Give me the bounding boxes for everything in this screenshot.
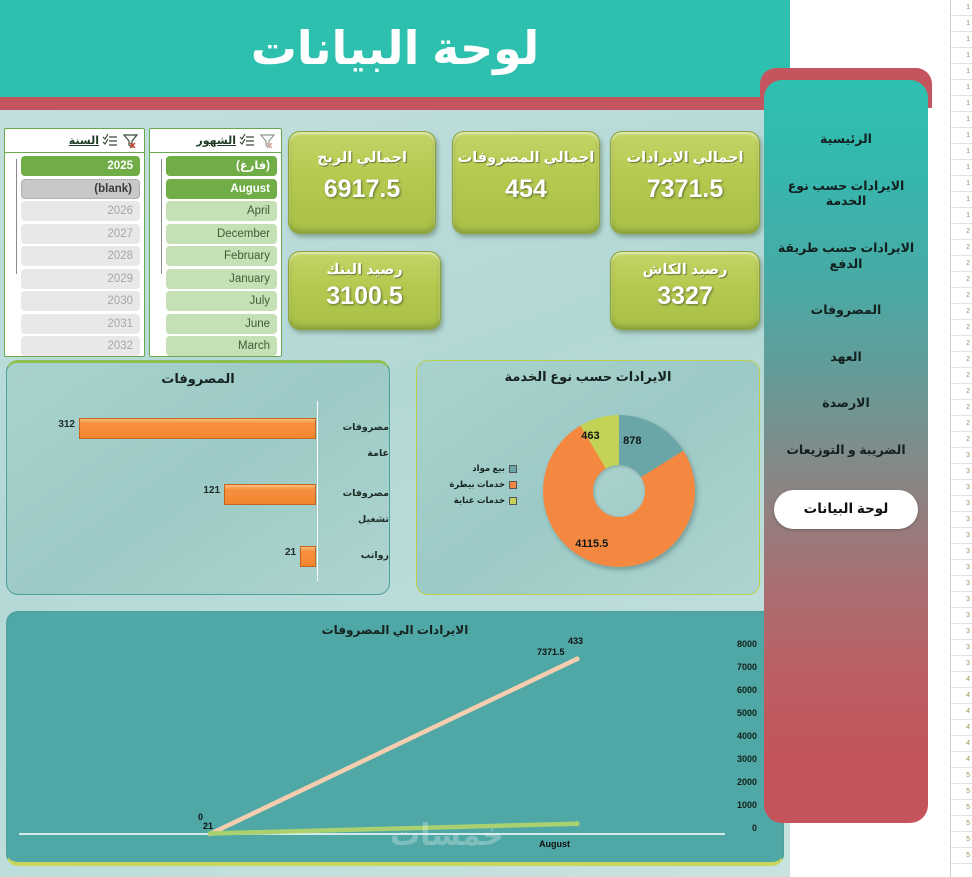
sidebar-item-home[interactable]: الرئيسية — [764, 132, 928, 148]
multi-select-icon[interactable] — [239, 133, 256, 149]
clear-filter-icon[interactable] — [122, 133, 139, 149]
slicer-year-scrollbar[interactable] — [9, 159, 17, 349]
chart-panel-expenses[interactable]: المصروفات مصروفات عامة 312 مصروفات تشغيل… — [6, 360, 390, 595]
legend-swatch-icon — [509, 465, 517, 473]
excel-row-number: 2 — [951, 304, 972, 320]
legend-label: خدمات بيطرة — [449, 479, 505, 490]
excel-row-number: 4 — [951, 672, 972, 688]
y-axis-tick: 7000 — [717, 662, 757, 672]
kpi-value: 6917.5 — [289, 175, 435, 204]
kpi-card-total-expenses[interactable]: اجمالي المصروفات 454 — [452, 131, 600, 234]
excel-row-number: 3 — [951, 576, 972, 592]
excel-row-number: 2 — [951, 400, 972, 416]
header-accent-rule — [0, 97, 790, 110]
excel-row-number: 1 — [951, 192, 972, 208]
bar-row[interactable]: رواتب 21 — [7, 543, 390, 569]
slicer-item-month[interactable]: February — [166, 246, 277, 266]
sidebar-item-dashboard[interactable]: لوحة البيانات — [774, 490, 918, 529]
excel-row-number: 3 — [951, 512, 972, 528]
slicer-months[interactable]: الشهور (فارغ) August April December Febr… — [149, 128, 282, 357]
kpi-label: اجمالي الايرادات — [611, 150, 759, 166]
excel-row-number: 3 — [951, 592, 972, 608]
excel-row-number: 3 — [951, 464, 972, 480]
bar-fill — [79, 418, 316, 439]
excel-row-number: 3 — [951, 528, 972, 544]
excel-row-number: 1 — [951, 16, 972, 32]
excel-row-number: 2 — [951, 432, 972, 448]
slicer-item-year[interactable]: 2027 — [21, 224, 140, 244]
legend-label: خدمات عناية — [454, 495, 505, 506]
excel-row-number: 2 — [951, 352, 972, 368]
slicer-months-header: الشهور — [150, 129, 281, 153]
slicer-months-title: الشهور — [155, 134, 236, 147]
chart-panel-revenue-by-service[interactable]: الايرادات حسب نوع الخدمة 878 4115.5 463 … — [416, 360, 760, 595]
bar-row[interactable]: مصروفات عامة 312 — [7, 415, 390, 441]
slicer-item-month[interactable]: June — [166, 314, 277, 334]
kpi-card-total-profit[interactable]: اجمالي الربح 6917.5 — [288, 131, 436, 234]
donut-value-label: 4115.5 — [575, 538, 608, 550]
y-axis-tick: 8000 — [717, 639, 757, 649]
kpi-label: اجمالي الربح — [289, 150, 435, 166]
excel-row-number: 3 — [951, 544, 972, 560]
excel-row-number: 5 — [951, 816, 972, 832]
excel-row-number: 3 — [951, 640, 972, 656]
bar-fill — [224, 484, 316, 505]
slicer-item-month[interactable]: January — [166, 269, 277, 289]
sidebar-item-tax-distributions[interactable]: الضريبة و التوزيعات — [764, 443, 928, 459]
y-axis-tick: 4000 — [717, 731, 757, 741]
donut-value-label: 878 — [623, 435, 641, 447]
page-title: لوحة البيانات — [0, 0, 790, 97]
excel-row-number: 5 — [951, 832, 972, 848]
donut-hole — [593, 465, 645, 517]
sidebar-item-balances[interactable]: الارصدة — [764, 396, 928, 412]
y-axis-tick: 0 — [717, 823, 757, 833]
excel-row-number: 1 — [951, 112, 972, 128]
excel-row-number: 4 — [951, 704, 972, 720]
kpi-card-cash-balance[interactable]: رصيد الكاش 3327 — [610, 251, 760, 330]
excel-row-number: 2 — [951, 240, 972, 256]
sidebar-item-revenue-by-service[interactable]: الايرادات حسب نوع الخدمة — [764, 179, 928, 210]
excel-row-number: 1 — [951, 32, 972, 48]
excel-row-number: 4 — [951, 736, 972, 752]
slicer-year[interactable]: السنة 2025 (blank) 2026 2027 2028 2029 2… — [4, 128, 145, 357]
slicer-item-month[interactable]: August — [166, 179, 277, 199]
slicer-item-year[interactable]: 2030 — [21, 291, 140, 311]
slicer-months-body: (فارغ) August April December February Ja… — [150, 153, 281, 356]
excel-row-number: 2 — [951, 256, 972, 272]
excel-row-number: 1 — [951, 64, 972, 80]
excel-row-number: 3 — [951, 560, 972, 576]
legend-label: بيع مواد — [472, 463, 505, 474]
excel-row-number: 1 — [951, 48, 972, 64]
slicer-item-month[interactable]: April — [166, 201, 277, 221]
excel-row-number: 1 — [951, 96, 972, 112]
y-axis-tick: 5000 — [717, 708, 757, 718]
donut-ring[interactable] — [543, 415, 695, 567]
sidebar-item-expenses[interactable]: المصروفات — [764, 303, 928, 319]
excel-row-number: 1 — [951, 208, 972, 224]
excel-row-number: 1 — [951, 128, 972, 144]
slicer-item-year[interactable]: 2025 — [21, 156, 140, 176]
slicer-item-year[interactable]: 2029 — [21, 269, 140, 289]
sidebar-item-revenue-by-payment[interactable]: الايرادات حسب طريقة الدفع — [764, 241, 928, 272]
excel-row-number: 3 — [951, 496, 972, 512]
bar-value-label: 21 — [285, 547, 296, 558]
bar-category-label: مصروفات تشغيل — [321, 481, 389, 507]
y-axis-tick: 1000 — [717, 800, 757, 810]
multi-select-icon[interactable] — [102, 133, 119, 149]
slicer-item-year[interactable]: 2031 — [21, 314, 140, 334]
excel-row-number: 3 — [951, 656, 972, 672]
legend-swatch-icon — [509, 497, 517, 505]
bar-category-label: رواتب — [321, 543, 389, 569]
excel-row-number: 2 — [951, 272, 972, 288]
excel-row-number: 1 — [951, 80, 972, 96]
bar-value-label: 312 — [58, 419, 75, 430]
excel-row-number: 4 — [951, 752, 972, 768]
excel-row-number: 2 — [951, 320, 972, 336]
legend-entry[interactable]: خدمات عناية — [425, 495, 517, 506]
slicer-item-month[interactable]: July — [166, 291, 277, 311]
slicer-item-year[interactable]: (blank) — [21, 179, 140, 199]
y-axis-tick: 6000 — [717, 685, 757, 695]
slicer-year-body: 2025 (blank) 2026 2027 2028 2029 2030 20… — [5, 153, 144, 356]
excel-row-number: 2 — [951, 288, 972, 304]
line-chart-svg — [7, 612, 784, 866]
slicer-year-header: السنة — [5, 129, 144, 153]
bar-fill — [300, 546, 316, 567]
slicer-item-month[interactable]: (فارغ) — [166, 156, 277, 176]
bar-category-label: مصروفات عامة — [321, 415, 389, 441]
kpi-card-bank-balance[interactable]: رصيد البنك 3100.5 — [288, 251, 441, 330]
dashboard-canvas: لوحة البيانات السنة 2025 (blank) — [0, 0, 950, 877]
chart-panel-revenue-vs-expenses[interactable]: الايرادات الي المصروفات 0 1000 2000 3000… — [6, 611, 784, 866]
kpi-label: اجمالي المصروفات — [453, 150, 599, 166]
chart-title-expenses: المصروفات — [7, 363, 389, 387]
legend-swatch-icon — [509, 481, 517, 489]
kpi-label: رصيد الكاش — [611, 262, 759, 278]
chart-title-revenue-by-service: الايرادات حسب نوع الخدمة — [417, 361, 759, 385]
clear-filter-icon[interactable] — [259, 133, 276, 149]
data-point-label: 21 — [203, 821, 213, 831]
data-point-label: 7371.5 — [537, 647, 565, 657]
donut-chart-plot-area: 878 4115.5 463 بيع مواد خدمات بيطرة خدما… — [417, 387, 760, 592]
excel-row-number: 2 — [951, 416, 972, 432]
slicer-item-year[interactable]: 2028 — [21, 246, 140, 266]
excel-row-number: 3 — [951, 448, 972, 464]
kpi-value: 3100.5 — [289, 282, 440, 311]
excel-row-number: 1 — [951, 144, 972, 160]
legend-entry[interactable]: بيع مواد — [425, 463, 517, 474]
x-axis-tick-label: August — [539, 839, 570, 849]
sidebar-item-custody[interactable]: العهد — [764, 350, 928, 366]
donut-legend: بيع مواد خدمات بيطرة خدمات عناية — [425, 463, 517, 511]
excel-row-header-strip: 1111111111111122222222222222333333333333… — [950, 0, 972, 877]
bar-row[interactable]: مصروفات تشغيل 121 — [7, 481, 390, 507]
excel-row-number: 1 — [951, 176, 972, 192]
kpi-card-total-revenue[interactable]: اجمالي الايرادات 7371.5 — [610, 131, 760, 234]
y-axis-tick: 3000 — [717, 754, 757, 764]
excel-row-number: 4 — [951, 688, 972, 704]
bar-chart-plot-area: مصروفات عامة 312 مصروفات تشغيل 121 رواتب… — [7, 397, 390, 587]
slicer-item-year[interactable]: 2026 — [21, 201, 140, 221]
excel-row-number: 2 — [951, 224, 972, 240]
y-axis-tick: 2000 — [717, 777, 757, 787]
dashboard-header: لوحة البيانات — [0, 0, 790, 97]
slicer-months-scrollbar[interactable] — [154, 159, 162, 349]
excel-row-number: 4 — [951, 720, 972, 736]
kpi-value: 454 — [453, 175, 599, 204]
kpi-value: 7371.5 — [611, 175, 759, 204]
kpi-label: رصيد البنك — [289, 262, 440, 278]
excel-row-number: 3 — [951, 480, 972, 496]
excel-row-number: 5 — [951, 768, 972, 784]
excel-row-number: 2 — [951, 384, 972, 400]
slicer-item-month[interactable]: December — [166, 224, 277, 244]
data-point-label: 433 — [568, 636, 583, 646]
sidebar-nav: الرئيسية الايرادات حسب نوع الخدمة الايرا… — [764, 80, 928, 823]
bar-value-label: 121 — [203, 485, 220, 496]
slicer-item-year[interactable]: 2032 — [21, 336, 140, 356]
excel-row-number: 3 — [951, 608, 972, 624]
excel-row-number: 5 — [951, 800, 972, 816]
slicer-year-title: السنة — [10, 134, 99, 147]
line-chart-plot-area: 0 1000 2000 3000 4000 5000 6000 7000 800… — [7, 612, 784, 866]
excel-row-number: 2 — [951, 368, 972, 384]
slicer-item-month[interactable]: March — [166, 336, 277, 356]
excel-row-number: 5 — [951, 784, 972, 800]
excel-row-number: 5 — [951, 848, 972, 864]
excel-row-number: 1 — [951, 0, 972, 16]
excel-row-number: 2 — [951, 336, 972, 352]
excel-row-number: 3 — [951, 624, 972, 640]
legend-entry[interactable]: خدمات بيطرة — [425, 479, 517, 490]
donut-value-label: 463 — [581, 430, 599, 442]
excel-row-number: 1 — [951, 160, 972, 176]
kpi-value: 3327 — [611, 282, 759, 311]
